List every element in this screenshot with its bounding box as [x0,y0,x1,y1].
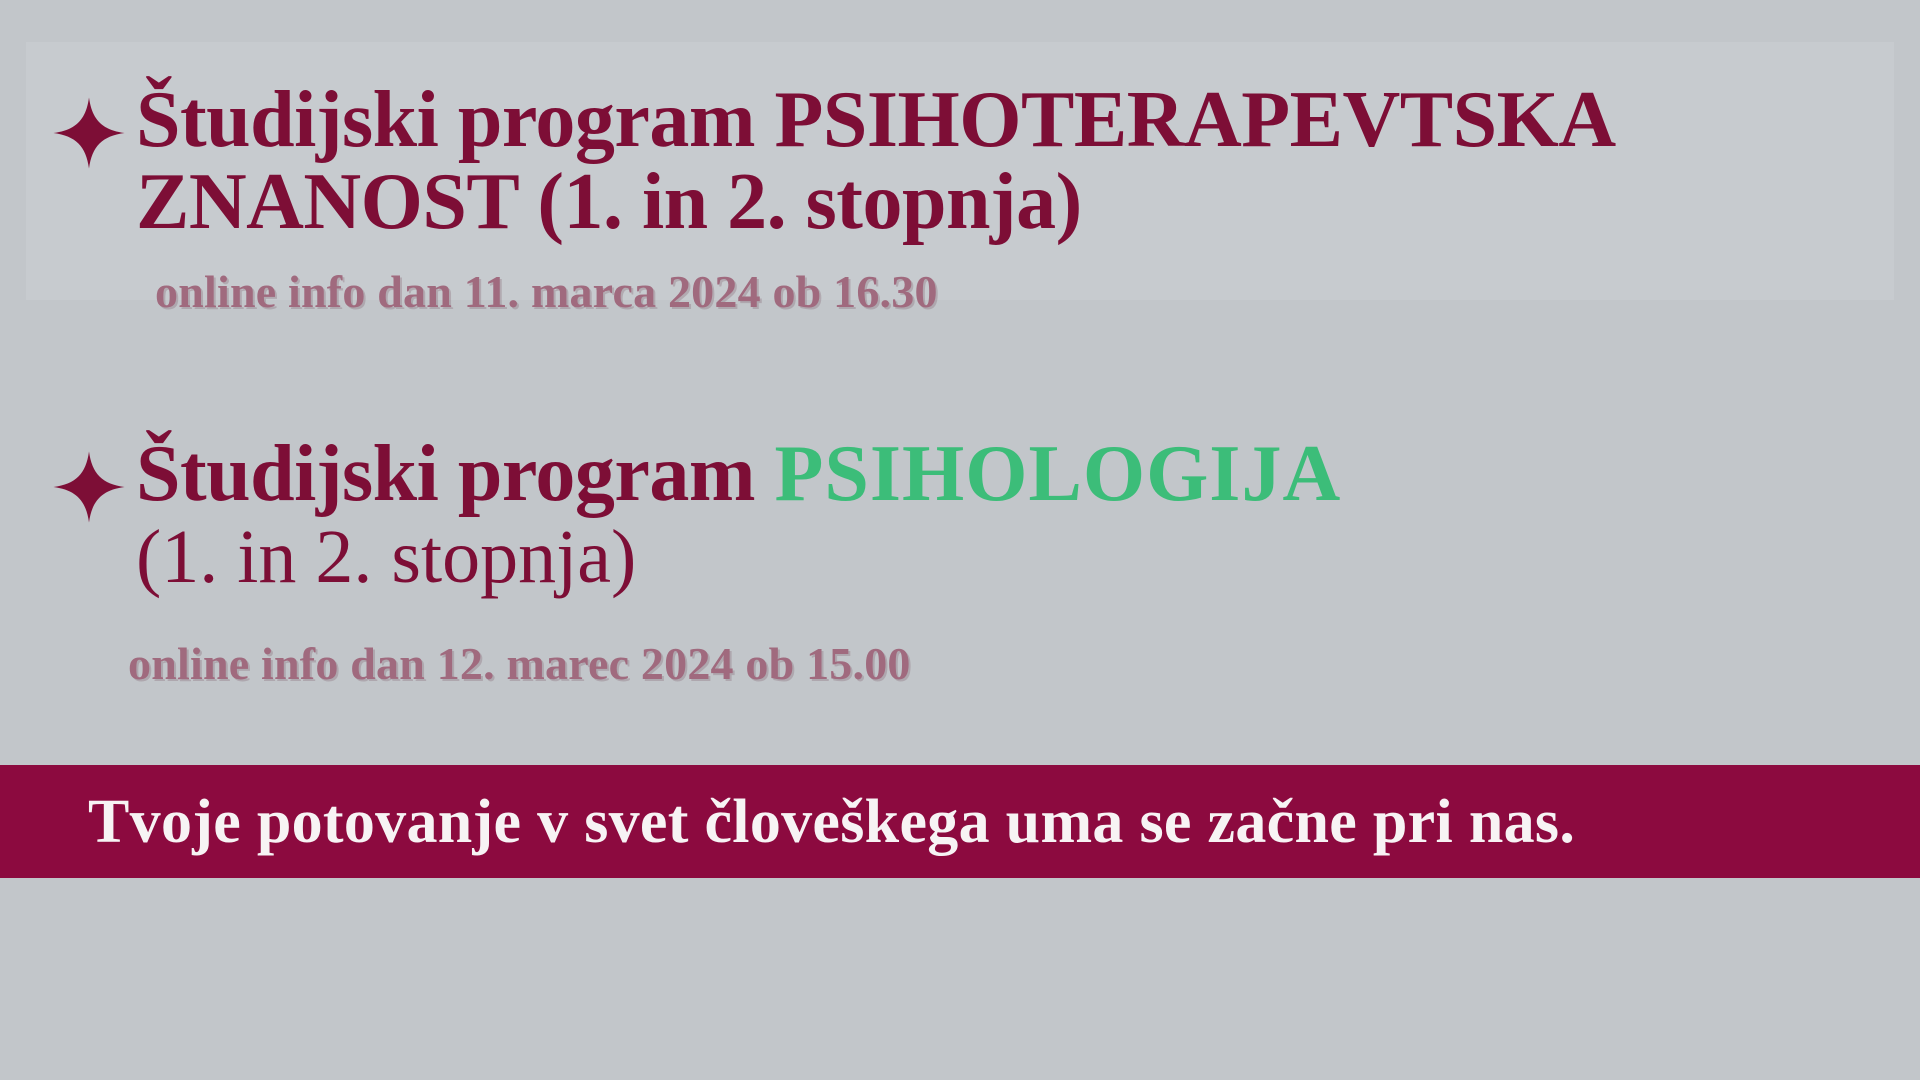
program-heading-row: Študijski program PSIHOTERAPEVTSKA ZNANO… [0,78,1920,243]
slogan-banner: Tvoje potovanje v svet človeškega uma se… [0,765,1920,878]
program-heading-text: Študijski program PSIHOLOGIJA (1. in 2. … [136,432,1341,597]
program-block-psihoterapevtska-znanost: Študijski program PSIHOTERAPEVTSKA ZNANO… [0,78,1920,318]
program-heading-line-2: ZNANOST (1. in 2. stopnja) [136,158,1082,246]
four-point-star-icon [52,450,126,524]
program-heading-emphasis-psihologija: PSIHOLOGIJA [775,430,1342,518]
program-heading-text: Študijski program PSIHOTERAPEVTSKA ZNANO… [136,78,1616,243]
program-info-date: online info dan 11. marca 2024 ob 16.30 [0,265,1920,318]
program-heading-line-1: Študijski program PSIHOTERAPEVTSKA [136,76,1616,164]
program-block-psihologija: Študijski program PSIHOLOGIJA (1. in 2. … [0,432,1920,690]
four-point-star-icon [52,96,126,170]
slogan-text: Tvoje potovanje v svet človeškega uma se… [0,791,1575,853]
program-heading-line-2: (1. in 2. stopnja) [136,515,636,599]
program-heading-row: Študijski program PSIHOLOGIJA (1. in 2. … [0,432,1920,597]
poster-stage: Študijski program PSIHOTERAPEVTSKA ZNANO… [0,0,1920,1080]
program-heading-line-1-prefix: Študijski program [136,430,775,518]
program-info-date: online info dan 12. marec 2024 ob 15.00 [0,637,1920,690]
